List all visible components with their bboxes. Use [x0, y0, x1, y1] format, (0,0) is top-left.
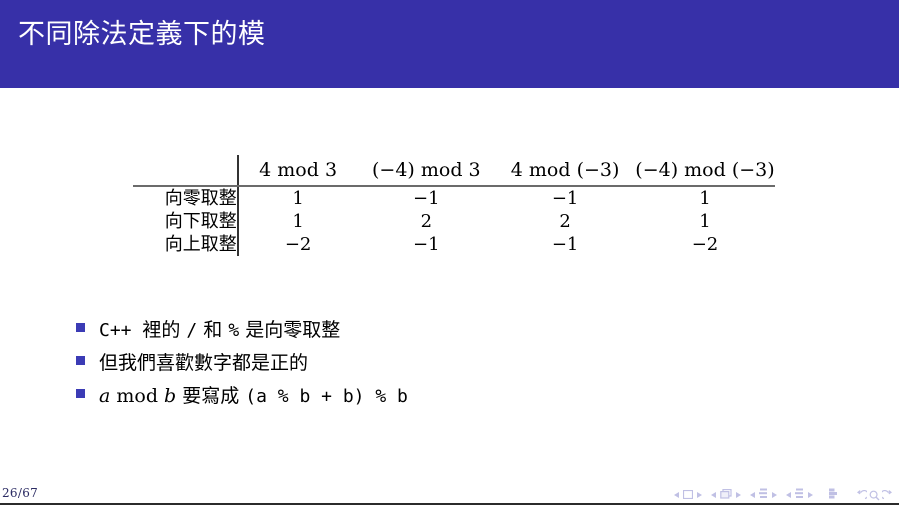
- table-cell: 1: [238, 210, 358, 233]
- table-cell: −1: [357, 233, 495, 256]
- next-section-icon[interactable]: [808, 492, 813, 498]
- slide-title-bar: 不同除法定義下的模: [0, 0, 899, 88]
- table-corner-cell: [133, 155, 238, 186]
- table-cell: 1: [238, 186, 358, 210]
- table-column-header: 4 mod 3: [238, 155, 358, 186]
- table-row: 向零取整 1 −1 −1 1: [133, 186, 775, 210]
- table-column-header: (−4) mod (−3): [635, 155, 775, 186]
- list-item-label: C++ 裡的 / 和 % 是向零取整: [99, 318, 340, 343]
- beamer-navigation-bar[interactable]: [665, 487, 893, 503]
- previous-slide-icon[interactable]: [674, 492, 679, 498]
- next-frame-icon[interactable]: [736, 492, 741, 498]
- previous-section-icon[interactable]: [786, 492, 791, 498]
- nav-group-section[interactable]: [786, 486, 813, 504]
- modulo-comparison-table: 4 mod 3 (−4) mod 3 4 mod (−3) (−4) mod (…: [133, 155, 775, 256]
- square-bullet-icon: [76, 323, 85, 332]
- slide-icon[interactable]: [683, 486, 693, 504]
- page-number: 26/67: [2, 486, 38, 500]
- list-item: 但我們喜歡數字都是正的: [76, 351, 856, 378]
- section-icon[interactable]: [795, 486, 804, 504]
- table-column-header: (−4) mod 3: [357, 155, 495, 186]
- square-bullet-icon: [76, 389, 85, 398]
- back-icon: [856, 490, 867, 501]
- list-item-label: 但我們喜歡數字都是正的: [99, 351, 308, 376]
- table-row-label: 向下取整: [133, 210, 238, 233]
- page-title: 不同除法定義下的模: [18, 18, 266, 52]
- frame-icon[interactable]: [720, 486, 732, 504]
- presentation-icon[interactable]: [829, 486, 838, 504]
- next-subsection-icon[interactable]: [772, 492, 777, 498]
- square-bullet-icon: [76, 356, 85, 365]
- table-row-label: 向上取整: [133, 233, 238, 256]
- bullet-list: C++ 裡的 / 和 % 是向零取整 但我們喜歡數字都是正的 a mod b 要…: [76, 318, 856, 417]
- table-cell: −1: [495, 186, 635, 210]
- subsection-icon[interactable]: [759, 486, 768, 504]
- table-column-header: 4 mod (−3): [495, 155, 635, 186]
- table-cell: −2: [238, 233, 358, 256]
- nav-group-frame[interactable]: [711, 486, 741, 504]
- table-header-row: 4 mod 3 (−4) mod 3 4 mod (−3) (−4) mod (…: [133, 155, 775, 186]
- table-cell: 1: [635, 210, 775, 233]
- table-cell: 1: [635, 186, 775, 210]
- table-row-label: 向零取整: [133, 186, 238, 210]
- nav-group-slide[interactable]: [674, 486, 702, 504]
- table-cell: −2: [635, 233, 775, 256]
- table-row: 向上取整 −2 −1 −1 −2: [133, 233, 775, 256]
- table-cell: 2: [357, 210, 495, 233]
- table: 4 mod 3 (−4) mod 3 4 mod (−3) (−4) mod (…: [133, 155, 775, 256]
- previous-frame-icon[interactable]: [711, 492, 716, 498]
- find-icon: [869, 490, 880, 501]
- list-item: a mod b 要寫成 (a % b + b) % b: [76, 384, 856, 411]
- list-item-label: a mod b 要寫成 (a % b + b) % b: [99, 384, 408, 409]
- list-item: C++ 裡的 / 和 % 是向零取整: [76, 318, 856, 345]
- table-row: 向下取整 1 2 2 1: [133, 210, 775, 233]
- table-cell: −1: [357, 186, 495, 210]
- previous-subsection-icon[interactable]: [750, 492, 755, 498]
- next-slide-icon[interactable]: [697, 492, 702, 498]
- table-cell: 2: [495, 210, 635, 233]
- nav-group-subsection[interactable]: [750, 486, 777, 504]
- nav-tools[interactable]: [854, 490, 893, 501]
- table-cell: −1: [495, 233, 635, 256]
- forward-icon: [882, 490, 893, 501]
